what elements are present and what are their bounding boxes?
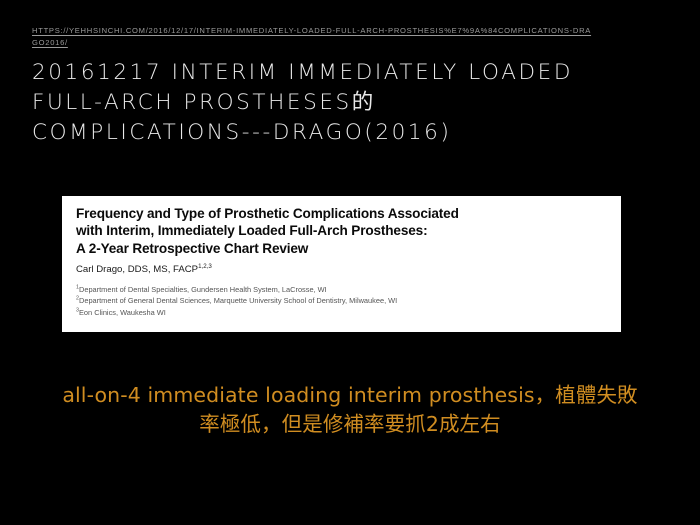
caption-line-2: 率極低，但是修補率要抓2成左右 xyxy=(0,410,700,439)
paper-title-line-2: with Interim, Immediately Loaded Full-Ar… xyxy=(76,223,427,238)
paper-affiliations: 1Department of Dental Specialties, Gunde… xyxy=(76,284,607,318)
paper-title: Frequency and Type of Prosthetic Complic… xyxy=(76,205,607,257)
affiliation-text: Department of Dental Specialties, Gunder… xyxy=(79,285,327,294)
affiliation-text: Department of General Dental Sciences, M… xyxy=(79,296,397,305)
affiliation-text: Eon Clinics, Waukesha WI xyxy=(79,308,166,317)
affiliation-item: 1Department of Dental Specialties, Gunde… xyxy=(76,284,607,295)
page-title-line-1: 20161217 INTERIM IMMEDIATELY LOADED xyxy=(32,60,573,85)
slide-canvas: HTTPS://YEHHSINCHI.COM/2016/12/17/INTERI… xyxy=(0,0,700,525)
paper-author-line: Carl Drago, DDS, MS, FACP1,2,3 xyxy=(76,264,607,276)
paper-author-name: Carl Drago, DDS, MS, FACP xyxy=(76,264,198,275)
paper-screenshot-card: Frequency and Type of Prosthetic Complic… xyxy=(62,196,621,332)
paper-title-line-1: Frequency and Type of Prosthetic Complic… xyxy=(76,206,459,221)
page-title: 20161217 INTERIM IMMEDIATELY LOADED FULL… xyxy=(32,58,682,148)
paper-title-line-3: A 2-Year Retrospective Chart Review xyxy=(76,241,308,256)
page-title-line-2: FULL-ARCH PROSTHESES xyxy=(32,90,352,115)
page-title-line-3: COMPLICATIONS---DRAGO(2016) xyxy=(32,120,451,145)
affiliation-item: 2Department of General Dental Sciences, … xyxy=(76,295,607,306)
paper-author-affiliation-markers: 1,2,3 xyxy=(198,263,212,270)
page-title-line-2-cjk: 的 xyxy=(352,90,375,115)
caption-line-1: all-on-4 immediate loading interim prost… xyxy=(0,381,700,410)
affiliation-item: 3Eon Clinics, Waukesha WI xyxy=(76,307,607,318)
source-url-link[interactable]: HTTPS://YEHHSINCHI.COM/2016/12/17/INTERI… xyxy=(32,25,594,49)
slide-caption: all-on-4 immediate loading interim prost… xyxy=(0,381,700,439)
